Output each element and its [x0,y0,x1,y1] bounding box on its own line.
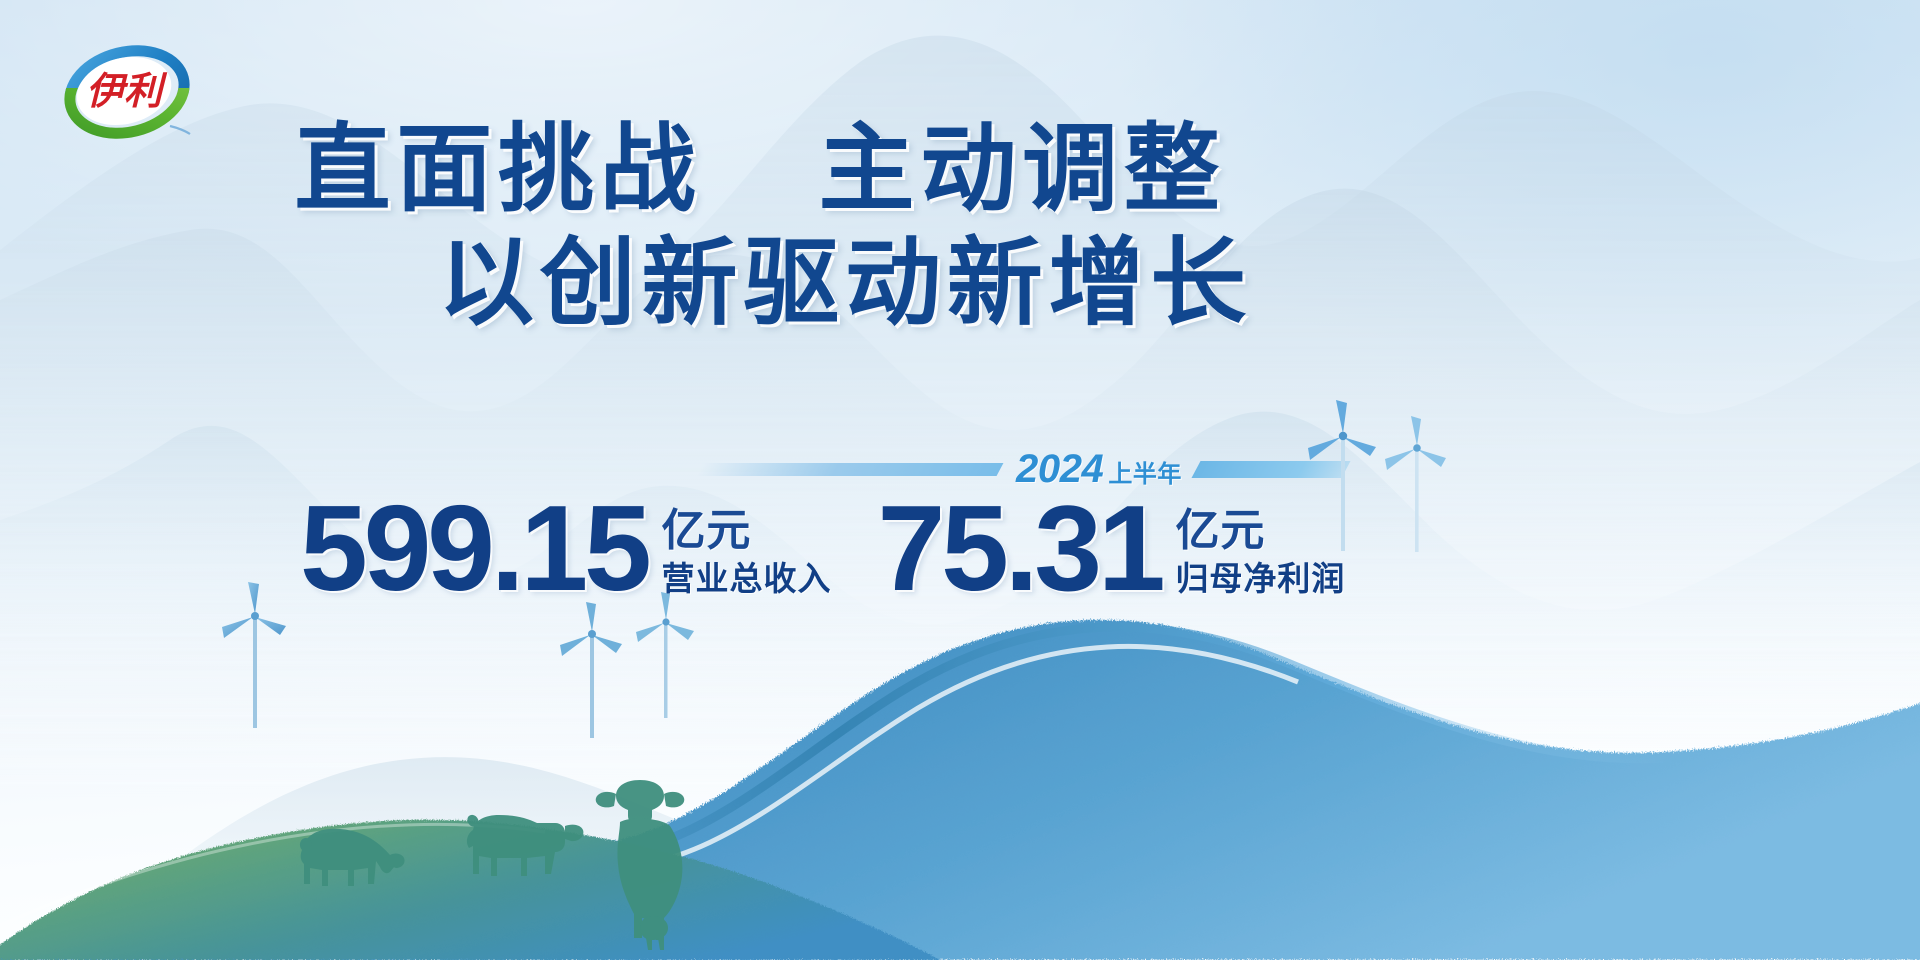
stat-net-profit-labels: 亿元 归母净利润 [1175,492,1345,598]
stats-row: 599.15 亿元 营业总收入 75.31 亿元 归母净利润 [300,492,1420,622]
yili-logo-wordmark: 伊利 [86,69,168,113]
mist-hill-center [700,784,1320,960]
headline-line-2: 以创新驱动新增长 [0,232,1460,336]
mist-hill-left [60,757,1040,960]
stat-net-profit: 75.31 亿元 归母净利润 [877,492,1345,604]
stat-net-profit-name: 归母净利润 [1175,560,1345,598]
wave-crest-highlight-2 [585,646,1298,866]
blue-wave [0,620,1920,960]
headline-block: 直面挑战 主动调整 以创新驱动新增长 [0,118,1460,335]
headline-line-1-part-2: 主动调整 [818,116,1225,223]
stat-net-profit-unit: 亿元 [1175,508,1345,554]
stat-revenue-unit: 亿元 [662,508,832,554]
stat-revenue: 599.15 亿元 营业总收入 [300,492,831,604]
stat-revenue-value: 599.15 [300,492,648,604]
wave-crest-highlight [560,627,1672,855]
stat-revenue-name: 营业总收入 [662,560,832,598]
pasture-hill [0,820,940,960]
wind-turbine-1 [208,580,304,730]
cow-front-right [596,780,685,950]
headline-line-1: 直面挑战 主动调整 [0,118,1460,222]
stat-revenue-labels: 亿元 营业总收入 [662,492,832,598]
headline-line-1-part-1: 直面挑战 [295,116,702,223]
period-bar-left-decoration [697,463,1004,476]
cow-standing-mid [467,815,583,876]
cow-grazing [300,829,405,886]
pasture-hill-rim [0,824,545,930]
stat-net-profit-value: 75.31 [877,492,1161,604]
mountain-range-mid [0,0,1920,760]
poster-canvas: 伊利 直面挑战 主动调整 以创新驱动新增长 2024 上半年 599.15 亿元… [0,0,1920,960]
period-bar-right-decoration [1191,461,1350,478]
